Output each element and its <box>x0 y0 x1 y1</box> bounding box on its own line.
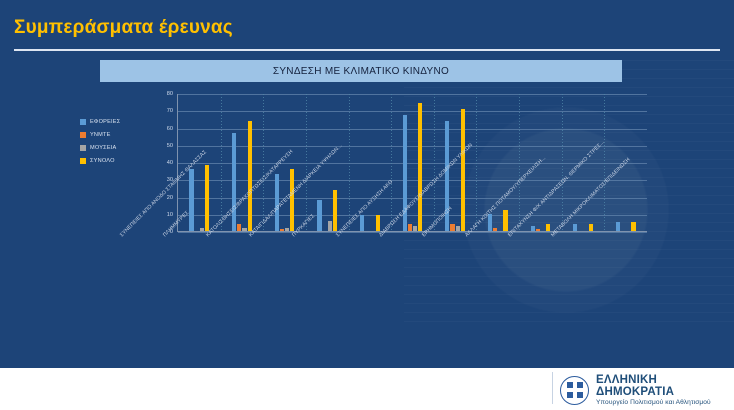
y-axis-tick-label: 50 <box>167 143 173 149</box>
legend-item-2[interactable]: ΥΝΜΤΕ <box>80 128 154 141</box>
x-axis-labels: ΣΥΝΕΠΕΙΕΣ ΑΠΟ ΑΝΟΔΟ ΣΤΑΘΜΗΣ ΘΑΛΑΣΣΑΣΠΛΗΜ… <box>97 234 572 349</box>
bar[interactable] <box>546 224 550 231</box>
bar[interactable] <box>413 226 417 231</box>
legend-swatch-icon <box>80 119 86 125</box>
bar[interactable] <box>333 190 337 231</box>
legend-label: ΕΦΟΡΕΙΕΣ <box>90 119 120 125</box>
bar[interactable] <box>285 228 289 231</box>
bar[interactable] <box>408 224 412 231</box>
bar[interactable] <box>290 169 294 231</box>
bar[interactable] <box>242 228 246 231</box>
legend-swatch-icon <box>80 158 86 164</box>
bar[interactable] <box>232 133 236 231</box>
bar[interactable] <box>616 222 620 231</box>
legend-item-4[interactable]: ΣΥΝΟΛΟ <box>80 154 154 167</box>
legend-item-3[interactable]: ΜΟΥΣΕΙΑ <box>80 141 154 154</box>
legend-swatch-icon <box>80 145 86 151</box>
bar[interactable] <box>536 229 540 231</box>
legend-item-1[interactable]: ΕΦΟΡΕΙΕΣ <box>80 115 154 128</box>
legend-label: ΥΝΜΤΕ <box>90 132 111 138</box>
bar[interactable] <box>573 224 577 231</box>
y-axis-tick-label: 70 <box>167 108 173 114</box>
bar[interactable] <box>328 221 332 231</box>
bar[interactable] <box>376 215 380 231</box>
chart: ΕΦΟΡΕΙΕΣΥΝΜΤΕΜΟΥΣΕΙΑΣΥΝΟΛΟ 8070605040302… <box>80 94 680 244</box>
chart-title-text: ΣΥΝΔΕΣΗ ΜΕ ΚΛΙΜΑΤΙΚΟ ΚΙΝΔΥΝΟ <box>273 66 449 77</box>
bar[interactable] <box>248 121 252 231</box>
page-title: Συμπεράσματα έρευνας <box>14 17 233 39</box>
bar-group <box>476 94 519 231</box>
legend-label: ΣΥΝΟΛΟ <box>90 158 115 164</box>
bar[interactable] <box>317 200 321 231</box>
y-axis-tick-label: 60 <box>167 126 173 132</box>
bar[interactable] <box>237 224 241 231</box>
chart-plot-wrapper: 80706050403020100 <box>155 94 725 234</box>
y-axis: 80706050403020100 <box>155 94 175 232</box>
slide-canvas: Συμπεράσματα έρευνας ΣΥΝΔΕΣΗ ΜΕ ΚΛΙΜΑΤΙΚ… <box>0 0 734 410</box>
bar[interactable] <box>205 165 209 231</box>
legend-swatch-icon <box>80 132 86 138</box>
bar[interactable] <box>418 103 422 231</box>
bar[interactable] <box>450 224 454 231</box>
footer-divider <box>552 372 553 404</box>
bar[interactable] <box>589 224 593 231</box>
bar[interactable] <box>456 226 460 231</box>
bar[interactable] <box>631 222 635 231</box>
footer-logo: ΕΛΛΗΝΙΚΗ ΔΗΜΟΚΡΑΤΙΑ Υπουργείο Πολιτισμού… <box>560 374 734 406</box>
chart-title-band: ΣΥΝΔΕΣΗ ΜΕ ΚΛΙΜΑΤΙΚΟ ΚΙΝΔΥΝΟ <box>100 60 622 82</box>
bar[interactable] <box>189 169 193 231</box>
bar[interactable] <box>493 228 497 231</box>
bar[interactable] <box>360 215 364 231</box>
y-axis-tick-label: 20 <box>167 195 173 201</box>
footer-text: ΕΛΛΗΝΙΚΗ ΔΗΜΟΚΡΑΤΙΑ Υπουργείο Πολιτισμού… <box>596 374 734 406</box>
footer-title: ΕΛΛΗΝΙΚΗ ΔΗΜΟΚΡΑΤΙΑ <box>596 374 734 398</box>
chart-legend: ΕΦΟΡΕΙΕΣΥΝΜΤΕΜΟΥΣΕΙΑΣΥΝΟΛΟ <box>80 115 154 167</box>
y-axis-tick-label: 10 <box>167 212 173 218</box>
title-divider <box>14 49 720 51</box>
y-axis-tick-label: 80 <box>167 91 173 97</box>
bar-group <box>391 94 434 231</box>
greek-coat-of-arms-icon <box>560 376 589 405</box>
bar-group <box>349 94 392 231</box>
bar[interactable] <box>200 228 204 231</box>
bar[interactable] <box>461 109 465 231</box>
footer-subtitle: Υπουργείο Πολιτισμού και Αθλητισμού <box>596 399 734 406</box>
bar[interactable] <box>531 226 535 231</box>
bar[interactable] <box>280 229 284 231</box>
bar[interactable] <box>503 210 507 231</box>
legend-label: ΜΟΥΣΕΙΑ <box>90 145 116 151</box>
y-axis-tick-label: 40 <box>167 160 173 166</box>
